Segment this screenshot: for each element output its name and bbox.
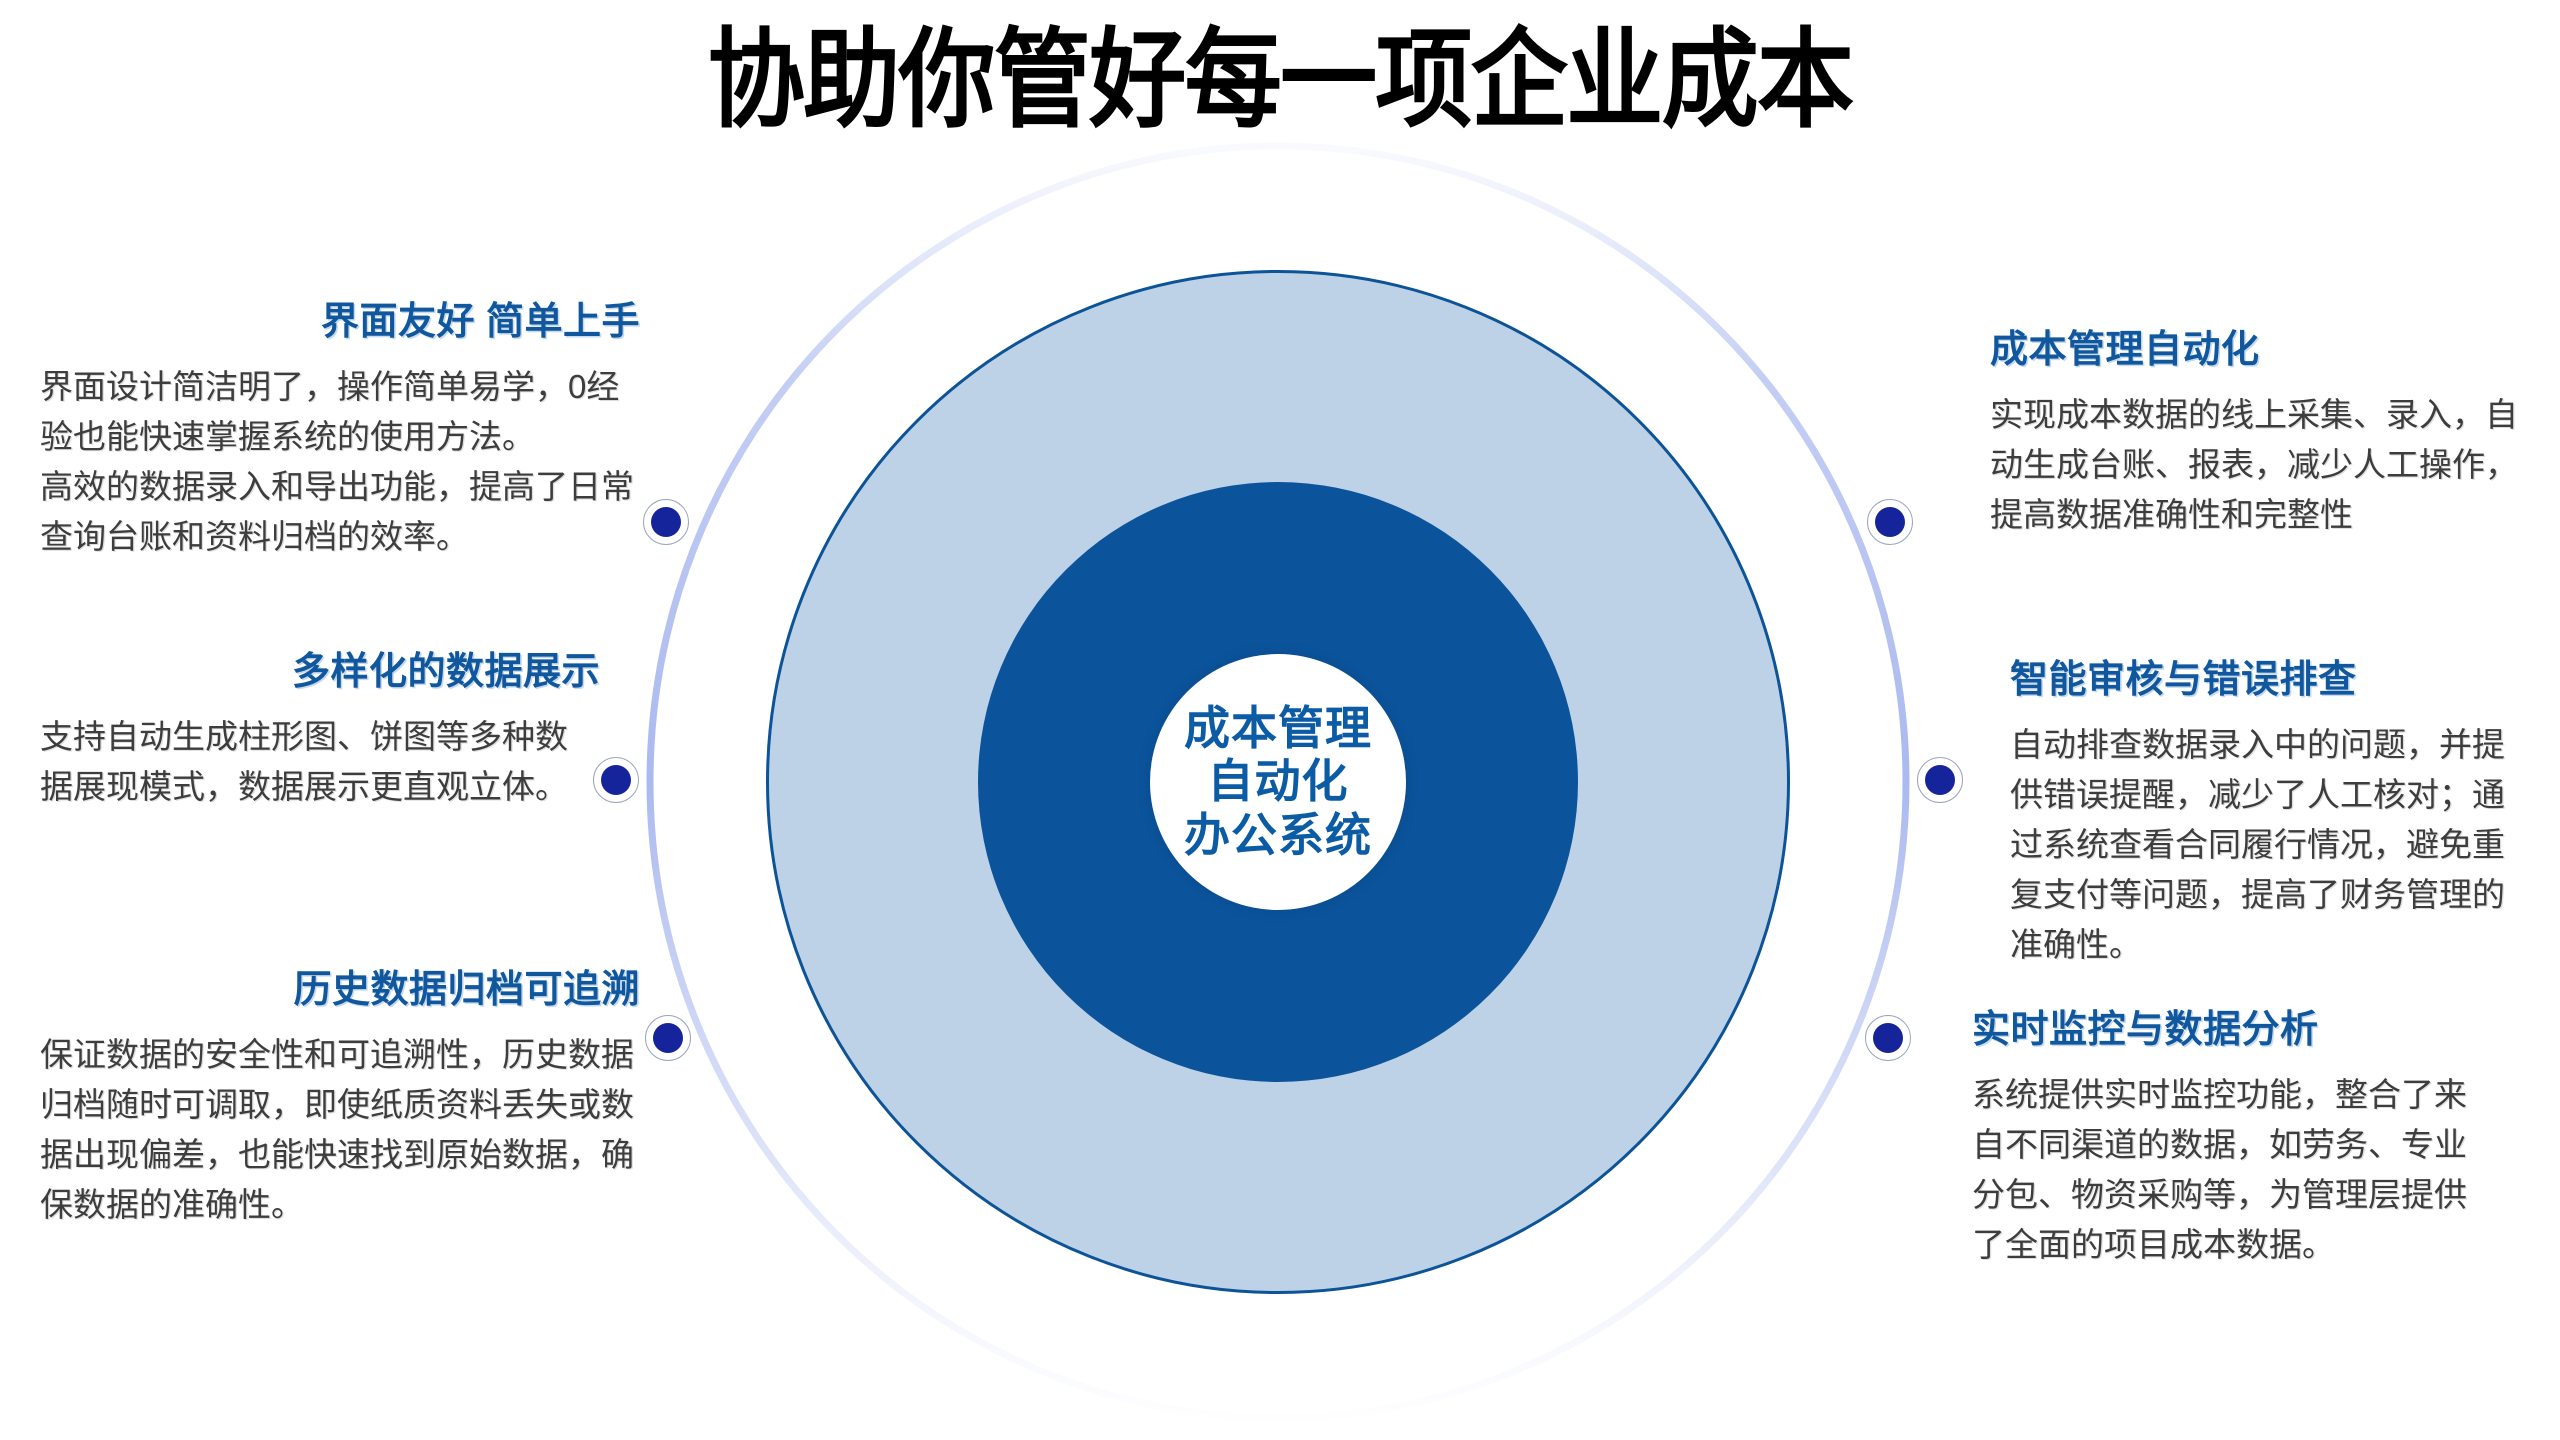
feature-heading: 实时监控与数据分析: [1972, 1008, 2492, 1054]
orbit-node-right-2[interactable]: [1917, 757, 1963, 803]
core-line-3: 办公系统: [1184, 809, 1372, 862]
orbit-node-right-1[interactable]: [1867, 499, 1913, 545]
feature-heading: 界面友好 简单上手: [40, 300, 640, 346]
feature-body: 实现成本数据的线上采集、录入，自动生成台账、报表，减少人工操作，提高数据准确性和…: [1990, 390, 2530, 540]
feature-body: 界面设计简洁明了，操作简单易学，0经验也能快速掌握系统的使用方法。 高效的数据录…: [40, 362, 640, 563]
feature-block-left-3: 历史数据归档可追溯 保证数据的安全性和可追溯性，历史数据归档随时可调取，即使纸质…: [40, 968, 640, 1230]
feature-block-left-2: 多样化的数据展示 支持自动生成柱形图、饼图等多种数据展现模式，数据展示更直观立体…: [40, 650, 600, 812]
orbit-node-left-1[interactable]: [643, 499, 689, 545]
feature-body: 支持自动生成柱形图、饼图等多种数据展现模式，数据展示更直观立体。: [40, 712, 600, 812]
center-diagram: 成本管理 自动化 办公系统: [638, 140, 1918, 1424]
feature-heading: 智能审核与错误排查: [2010, 658, 2530, 704]
orbit-node-right-3[interactable]: [1865, 1015, 1911, 1061]
feature-block-right-3: 实时监控与数据分析 系统提供实时监控功能，整合了来自不同渠道的数据，如劳务、专业…: [1972, 1008, 2492, 1270]
feature-body: 自动排查数据录入中的问题，并提供错误提醒，减少了人工核对；通过系统查看合同履行情…: [2010, 720, 2530, 971]
infographic-canvas: 协助你管好每一项企业成本 成本管理 自动化 办公系统: [0, 0, 2560, 1440]
feature-block-right-2: 智能审核与错误排查 自动排查数据录入中的问题，并提供错误提醒，减少了人工核对；通…: [2010, 658, 2530, 970]
feature-body: 保证数据的安全性和可追溯性，历史数据归档随时可调取，即使纸质资料丢失或数据出现偏…: [40, 1030, 640, 1231]
feature-heading: 成本管理自动化: [1990, 328, 2530, 374]
feature-heading: 历史数据归档可追溯: [40, 968, 640, 1014]
core-line-1: 成本管理: [1184, 702, 1372, 755]
feature-heading: 多样化的数据展示: [40, 650, 600, 696]
feature-block-right-1: 成本管理自动化 实现成本数据的线上采集、录入，自动生成台账、报表，减少人工操作，…: [1990, 328, 2530, 540]
feature-block-left-1: 界面友好 简单上手 界面设计简洁明了，操作简单易学，0经验也能快速掌握系统的使用…: [40, 300, 640, 562]
page-title: 协助你管好每一项企业成本: [128, 22, 2432, 139]
feature-body: 系统提供实时监控功能，整合了来自不同渠道的数据，如劳务、专业分包、物资采购等，为…: [1972, 1070, 2492, 1271]
orbit-node-left-3[interactable]: [645, 1015, 691, 1061]
core-circle: 成本管理 自动化 办公系统: [1150, 654, 1406, 910]
core-line-2: 自动化: [1208, 755, 1349, 808]
